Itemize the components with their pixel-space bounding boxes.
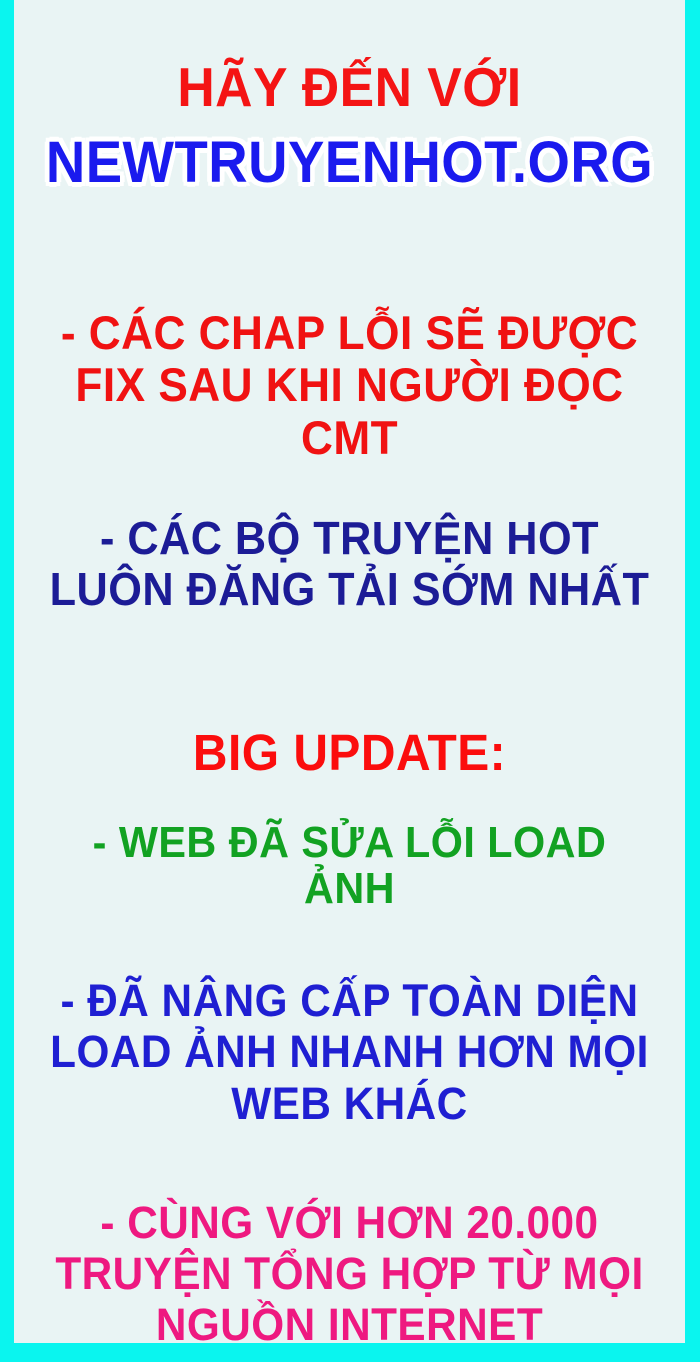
headline-come-to: HÃY ĐẾN VỚI xyxy=(42,58,658,116)
bullet-image-load-fix: - WEB ĐÃ SỬA LỖI LOAD ẢNH xyxy=(42,820,658,913)
bottom-white-strip xyxy=(0,1362,700,1368)
site-name-heading: NEWTRUYENHOT.ORG xyxy=(42,132,658,193)
banner-content-panel: HÃY ĐẾN VỚI NEWTRUYENHOT.ORG - CÁC CHAP … xyxy=(14,0,685,1343)
bullet-full-upgrade: - ĐÃ NÂNG CẤP TOÀN DIỆN LOAD ẢNH NHANH H… xyxy=(42,975,658,1129)
bullet-chapter-fix: - CÁC CHAP LỖI SẼ ĐƯỢC FIX SAU KHI NGƯỜI… xyxy=(42,307,658,465)
bullet-story-count: - CÙNG VỚI HƠN 20.000 TRUYỆN TỔNG HỢP TỪ… xyxy=(42,1197,658,1351)
big-update-heading: BIG UPDATE: xyxy=(42,726,658,780)
bullet-hot-series: - CÁC BỘ TRUYỆN HOT LUÔN ĐĂNG TẢI SỚM NH… xyxy=(42,513,658,616)
promo-banner: HÃY ĐẾN VỚI NEWTRUYENHOT.ORG - CÁC CHAP … xyxy=(0,0,700,1368)
